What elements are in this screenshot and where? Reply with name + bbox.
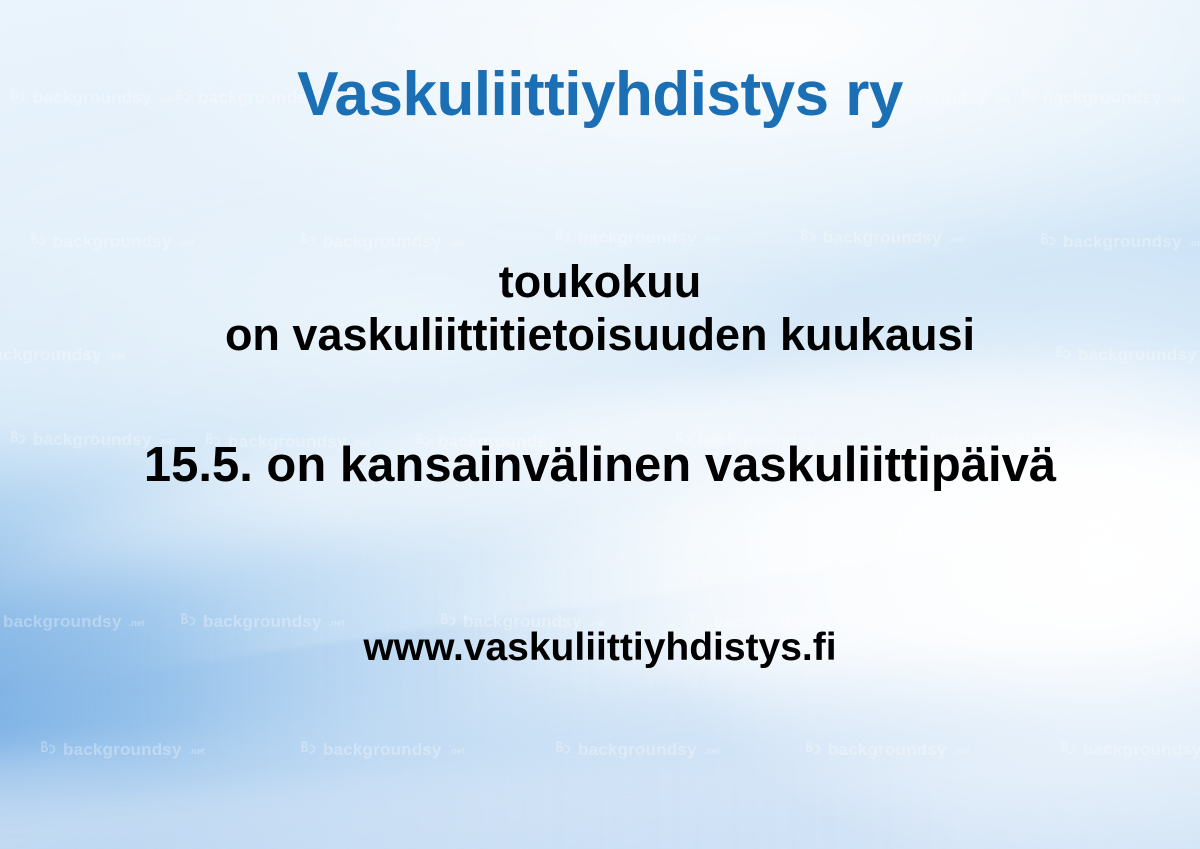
awareness-day-block: 15.5. on kansainvälinen vaskuliittipäivä	[0, 437, 1200, 495]
awareness-month-line-1: toukokuu	[0, 255, 1200, 308]
page-title: Vaskuliittiyhdistys ry	[0, 62, 1200, 127]
awareness-day-line: 15.5. on kansainvälinen vaskuliittipäivä	[0, 437, 1200, 495]
awareness-month-line-2: on vaskuliittitietoisuuden kuukausi	[0, 308, 1200, 361]
website-url: www.vaskuliittiyhdistys.fi	[0, 625, 1200, 671]
slide-content: Vaskuliittiyhdistys ry toukokuu on vasku…	[0, 0, 1200, 849]
website-block: www.vaskuliittiyhdistys.fi	[0, 625, 1200, 671]
slide-canvas: backgroundsy.netbackgroundsy.netbackgrou…	[0, 0, 1200, 849]
awareness-month-block: toukokuu on vaskuliittitietoisuuden kuuk…	[0, 255, 1200, 361]
